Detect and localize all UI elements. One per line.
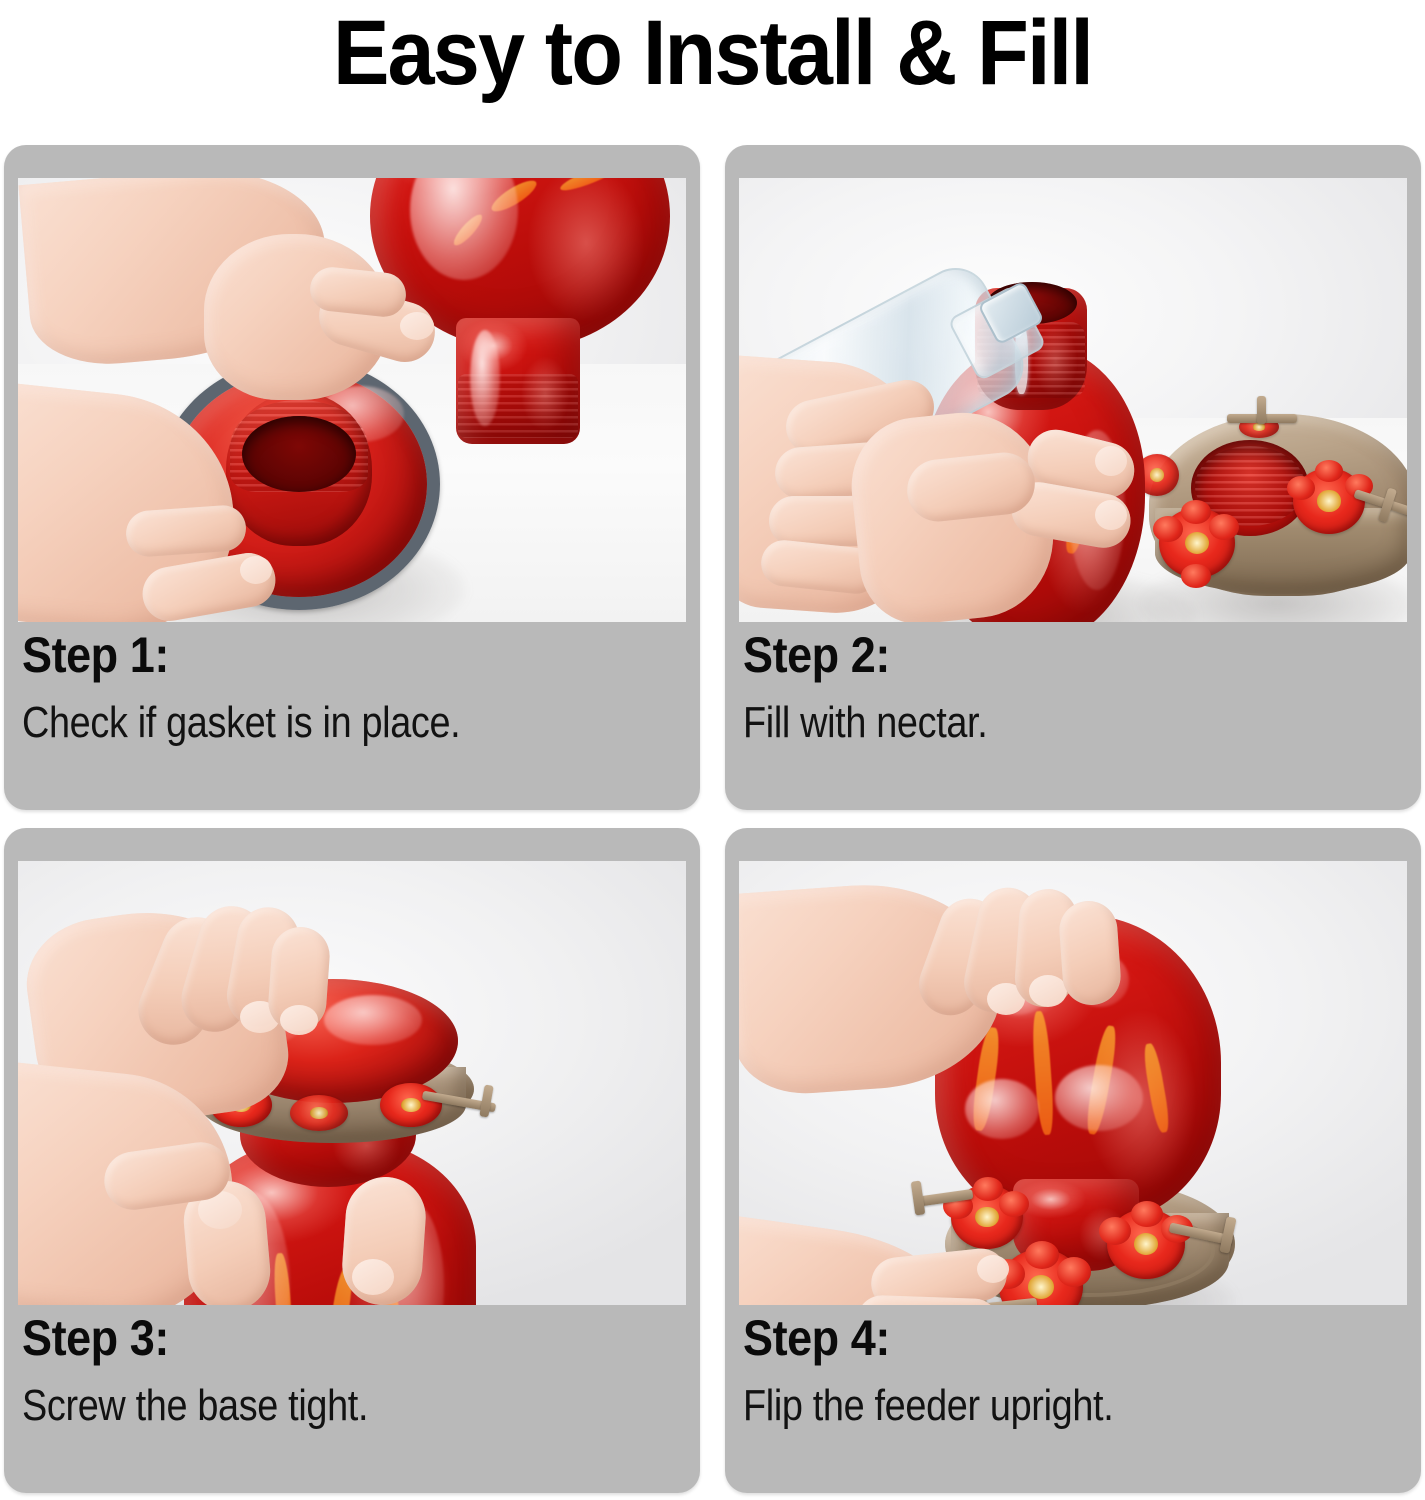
step-1-description: Check if gasket is in place. [22, 701, 572, 745]
step-1-photo [18, 178, 686, 622]
step-3-caption: Step 3: Screw the base tight. [22, 1313, 662, 1428]
step-3-label: Step 3: [22, 1313, 598, 1363]
step-2-photo [739, 178, 1407, 622]
step-2-label: Step 2: [743, 630, 1319, 680]
flower-port [380, 1083, 442, 1127]
step-2-description: Fill with nectar. [743, 701, 1293, 745]
page-title: Easy to Install & Fill [57, 4, 1368, 103]
step-2-caption: Step 2: Fill with nectar. [743, 630, 1383, 745]
step-3-photo [18, 861, 686, 1305]
step-card-4: Step 4: Flip the feeder upright. [725, 828, 1421, 1493]
step-card-3: Step 3: Screw the base tight. [4, 828, 700, 1493]
step-4-label: Step 4: [743, 1313, 1319, 1363]
step-card-2: Step 2: Fill with nectar. [725, 145, 1421, 810]
step-card-1: Step 1: Check if gasket is in place. [4, 145, 700, 810]
step-1-label: Step 1: [22, 630, 598, 680]
infographic-page: Easy to Install & Fill [0, 0, 1425, 1500]
steps-grid: Step 1: Check if gasket is in place. [4, 145, 1421, 1495]
step-1-caption: Step 1: Check if gasket is in place. [22, 630, 662, 745]
step-4-photo [739, 861, 1407, 1305]
step-4-caption: Step 4: Flip the feeder upright. [743, 1313, 1383, 1428]
step-4-description: Flip the feeder upright. [743, 1384, 1293, 1428]
step-3-description: Screw the base tight. [22, 1384, 572, 1428]
